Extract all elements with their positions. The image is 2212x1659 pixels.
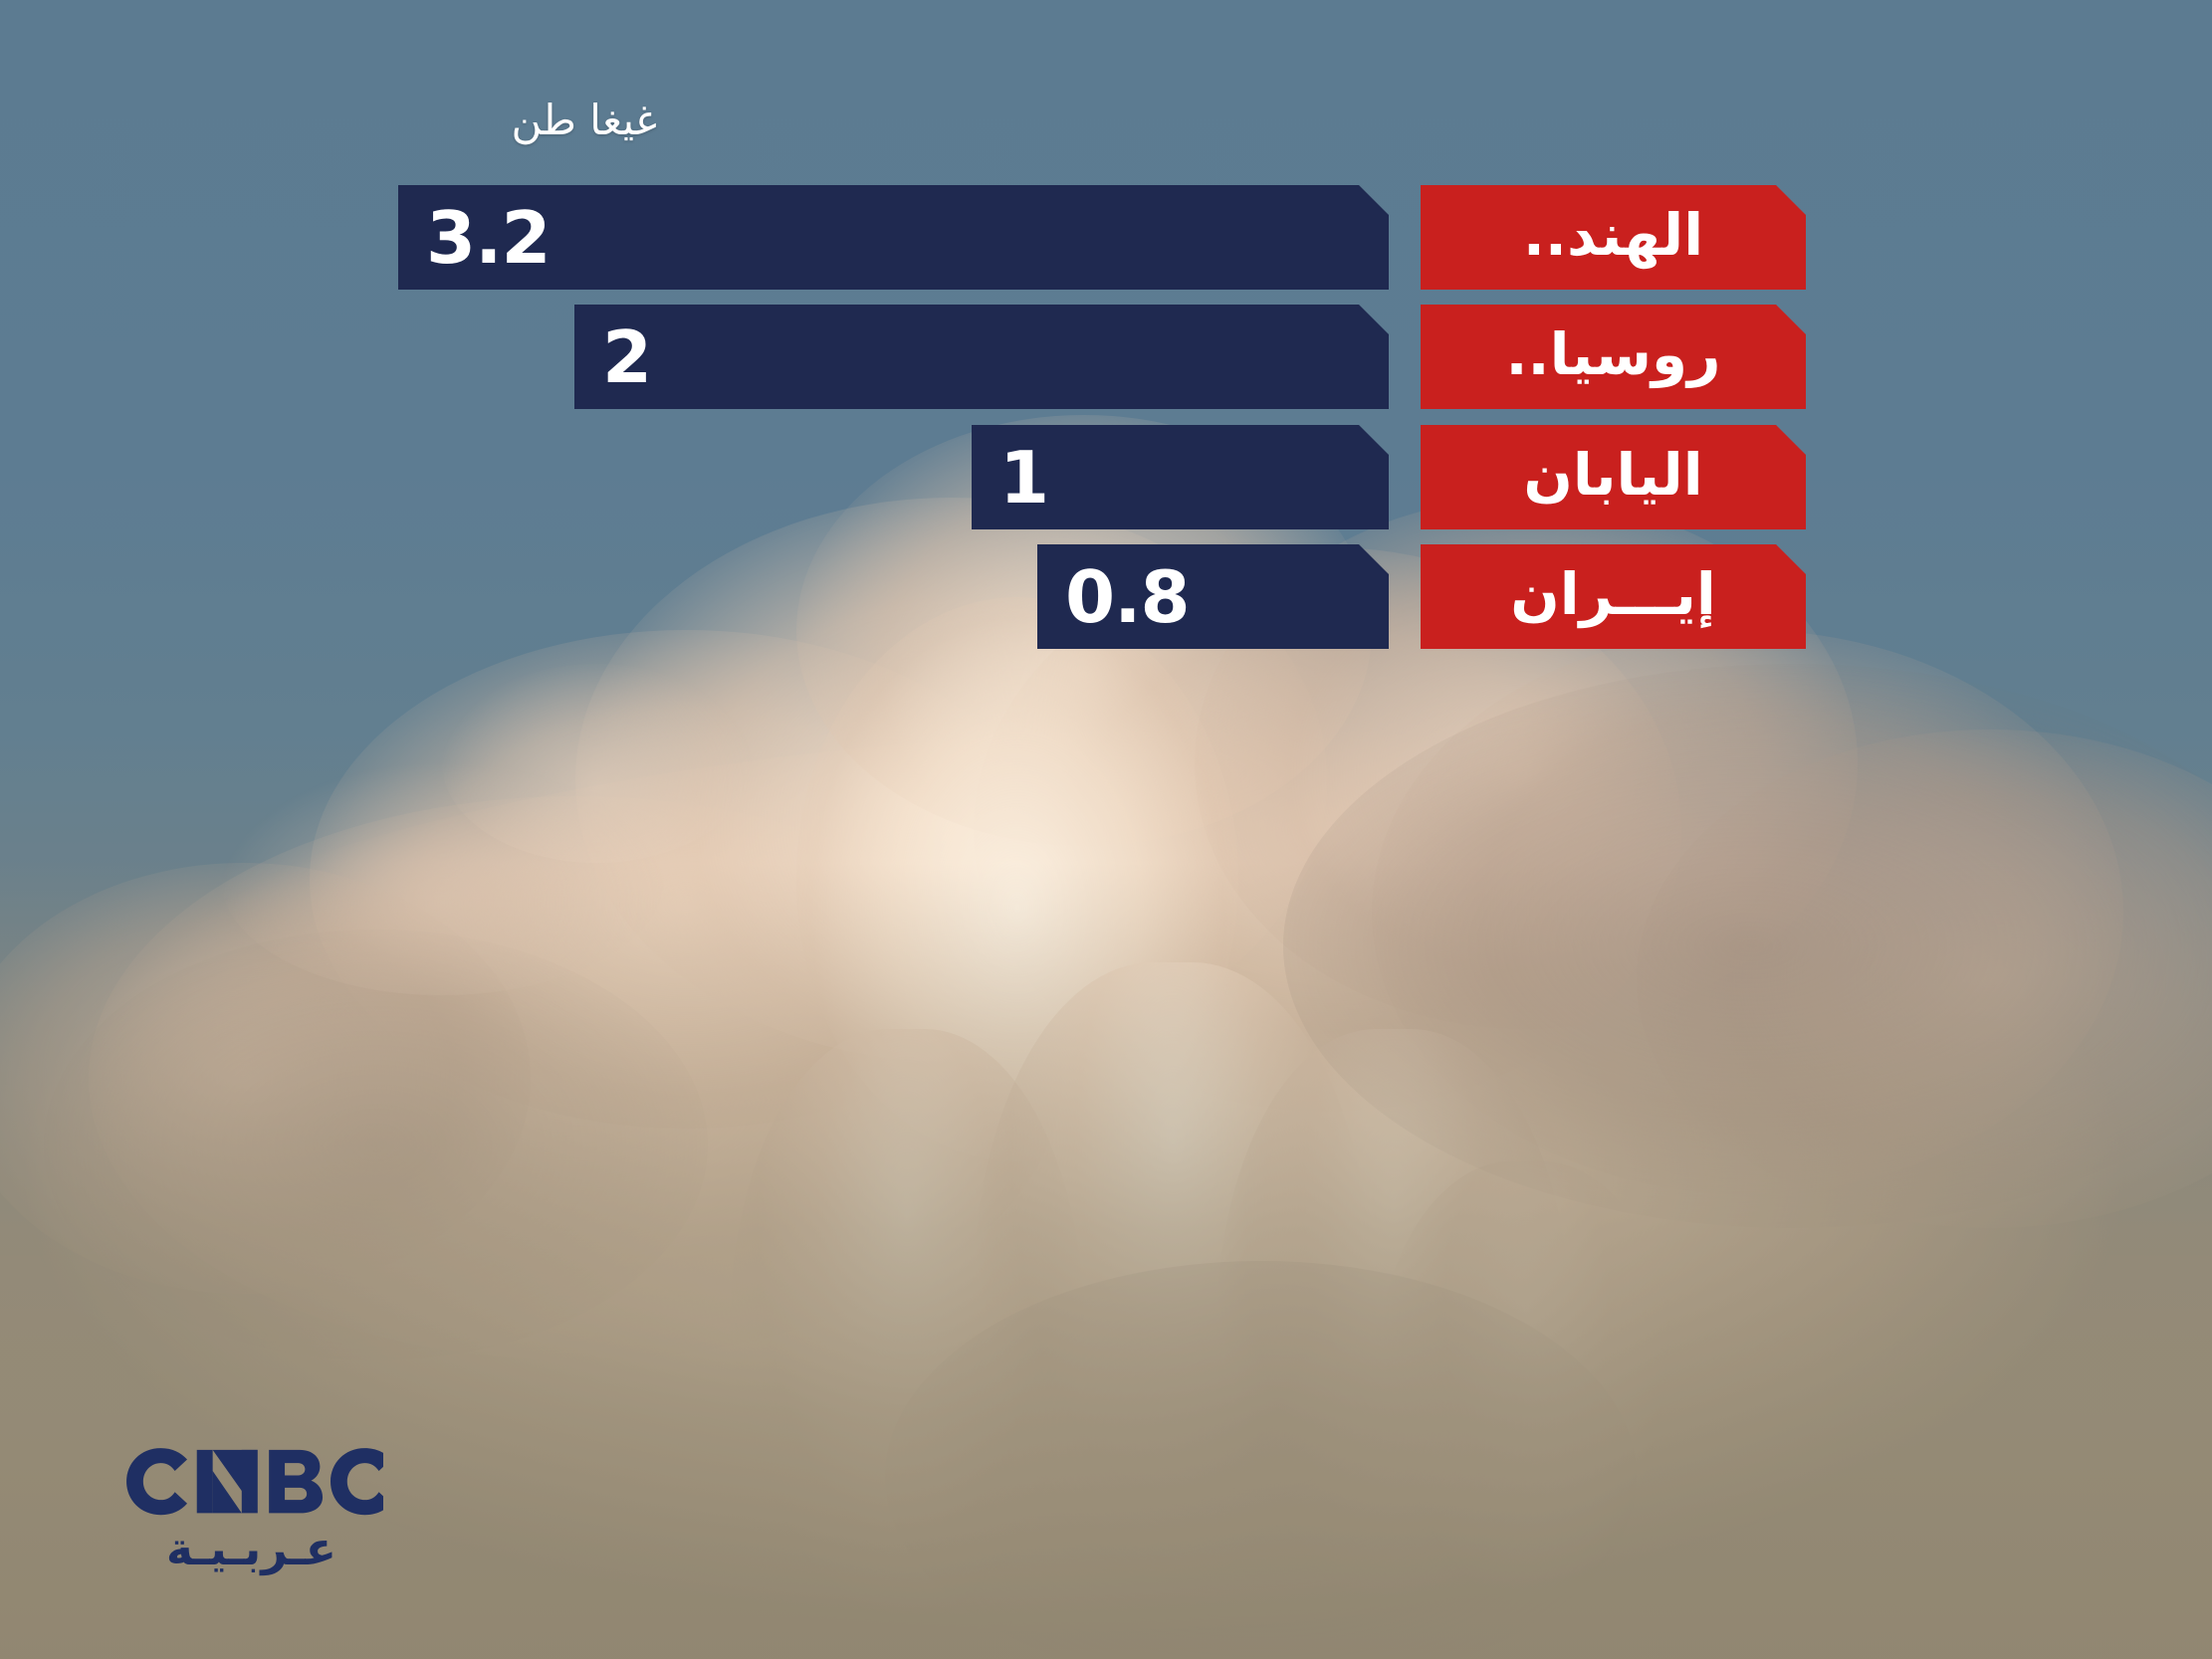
country-label-box-2: روسيا.. xyxy=(1421,305,1806,409)
cnbc-arabia-logo: عـربـيـة xyxy=(119,1441,398,1571)
bar-value-label-2: 2 xyxy=(574,321,651,393)
country-label-box-4: إيـــران xyxy=(1421,544,1806,649)
bar-chart: غيغا طن 3.2 الهند.. 2 روسيا.. 1 xyxy=(0,0,2212,1659)
unit-axis-label: غيغا طن xyxy=(398,100,657,141)
bar-value-label-1: 3.2 xyxy=(398,202,551,274)
country-label-4: إيـــران xyxy=(1510,565,1716,629)
logo-arabic-label: عـربـيـة xyxy=(119,1526,383,1571)
value-bar-1: 3.2 xyxy=(398,185,1389,290)
infographic-canvas: غيغا طن 3.2 الهند.. 2 روسيا.. 1 xyxy=(0,0,2212,1659)
value-bar-2: 2 xyxy=(574,305,1389,409)
country-label-box-3: اليابان xyxy=(1421,425,1806,529)
value-bar-3: 1 xyxy=(972,425,1389,529)
country-label-3: اليابان xyxy=(1523,446,1702,510)
bar-value-label-3: 1 xyxy=(972,442,1048,514)
country-label-1: الهند.. xyxy=(1523,206,1703,270)
country-label-box-1: الهند.. xyxy=(1421,185,1806,290)
bar-value-label-4: 0.8 xyxy=(1037,561,1190,633)
value-bar-4: 0.8 xyxy=(1037,544,1389,649)
country-label-2: روسيا.. xyxy=(1506,325,1721,389)
cnbc-wordmark-icon xyxy=(119,1441,383,1522)
